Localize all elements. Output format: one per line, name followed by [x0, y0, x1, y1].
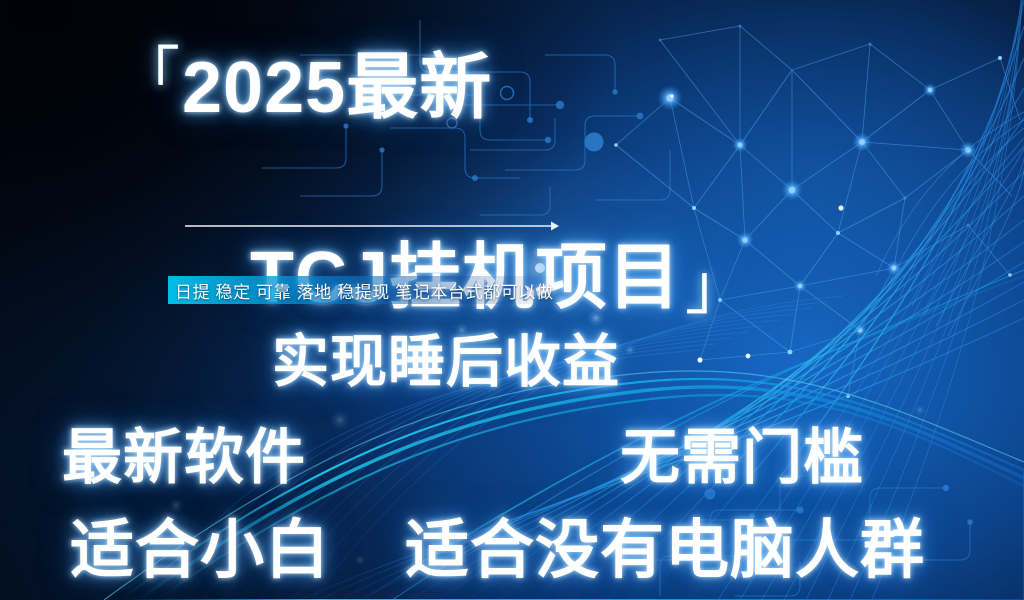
- headline-text: 实现睡后收益: [272, 330, 620, 394]
- banner-content: 「 2025最新 TCJ挂机项目 」 日提 稳定 可靠 落地 稳提现 笔记本台式…: [0, 0, 1024, 600]
- promo-banner: 「 2025最新 TCJ挂机项目 」 日提 稳定 可靠 落地 稳提现 笔记本台式…: [0, 0, 1024, 600]
- headline-block: 实现睡后收益: [272, 334, 620, 391]
- feature-no-threshold: 无需门槛: [620, 428, 864, 488]
- title-line-1: 「 2025最新: [118, 52, 492, 124]
- feature-latest-software: 最新软件: [62, 428, 306, 488]
- subtitle-text: 日提 稳定 可靠 落地 稳提现 笔记本台式都可以做: [175, 278, 554, 303]
- arrow-right-icon: [185, 220, 559, 232]
- feature-latest-software-text: 最新软件: [62, 424, 306, 491]
- bracket-open-icon: 「: [118, 52, 180, 103]
- title-line-1-text: 2025最新: [182, 52, 492, 124]
- subtitle-highlight-bar: 日提 稳定 可靠 落地 稳提现 笔记本台式都可以做: [168, 276, 561, 304]
- feature-no-computer: 适合没有电脑人群: [405, 518, 925, 582]
- feature-no-threshold-text: 无需门槛: [620, 424, 864, 491]
- feature-for-beginners-text: 适合小白: [70, 514, 330, 586]
- feature-no-computer-text: 适合没有电脑人群: [405, 514, 925, 586]
- bracket-close-icon: 」: [685, 263, 747, 314]
- feature-for-beginners: 适合小白: [70, 518, 330, 582]
